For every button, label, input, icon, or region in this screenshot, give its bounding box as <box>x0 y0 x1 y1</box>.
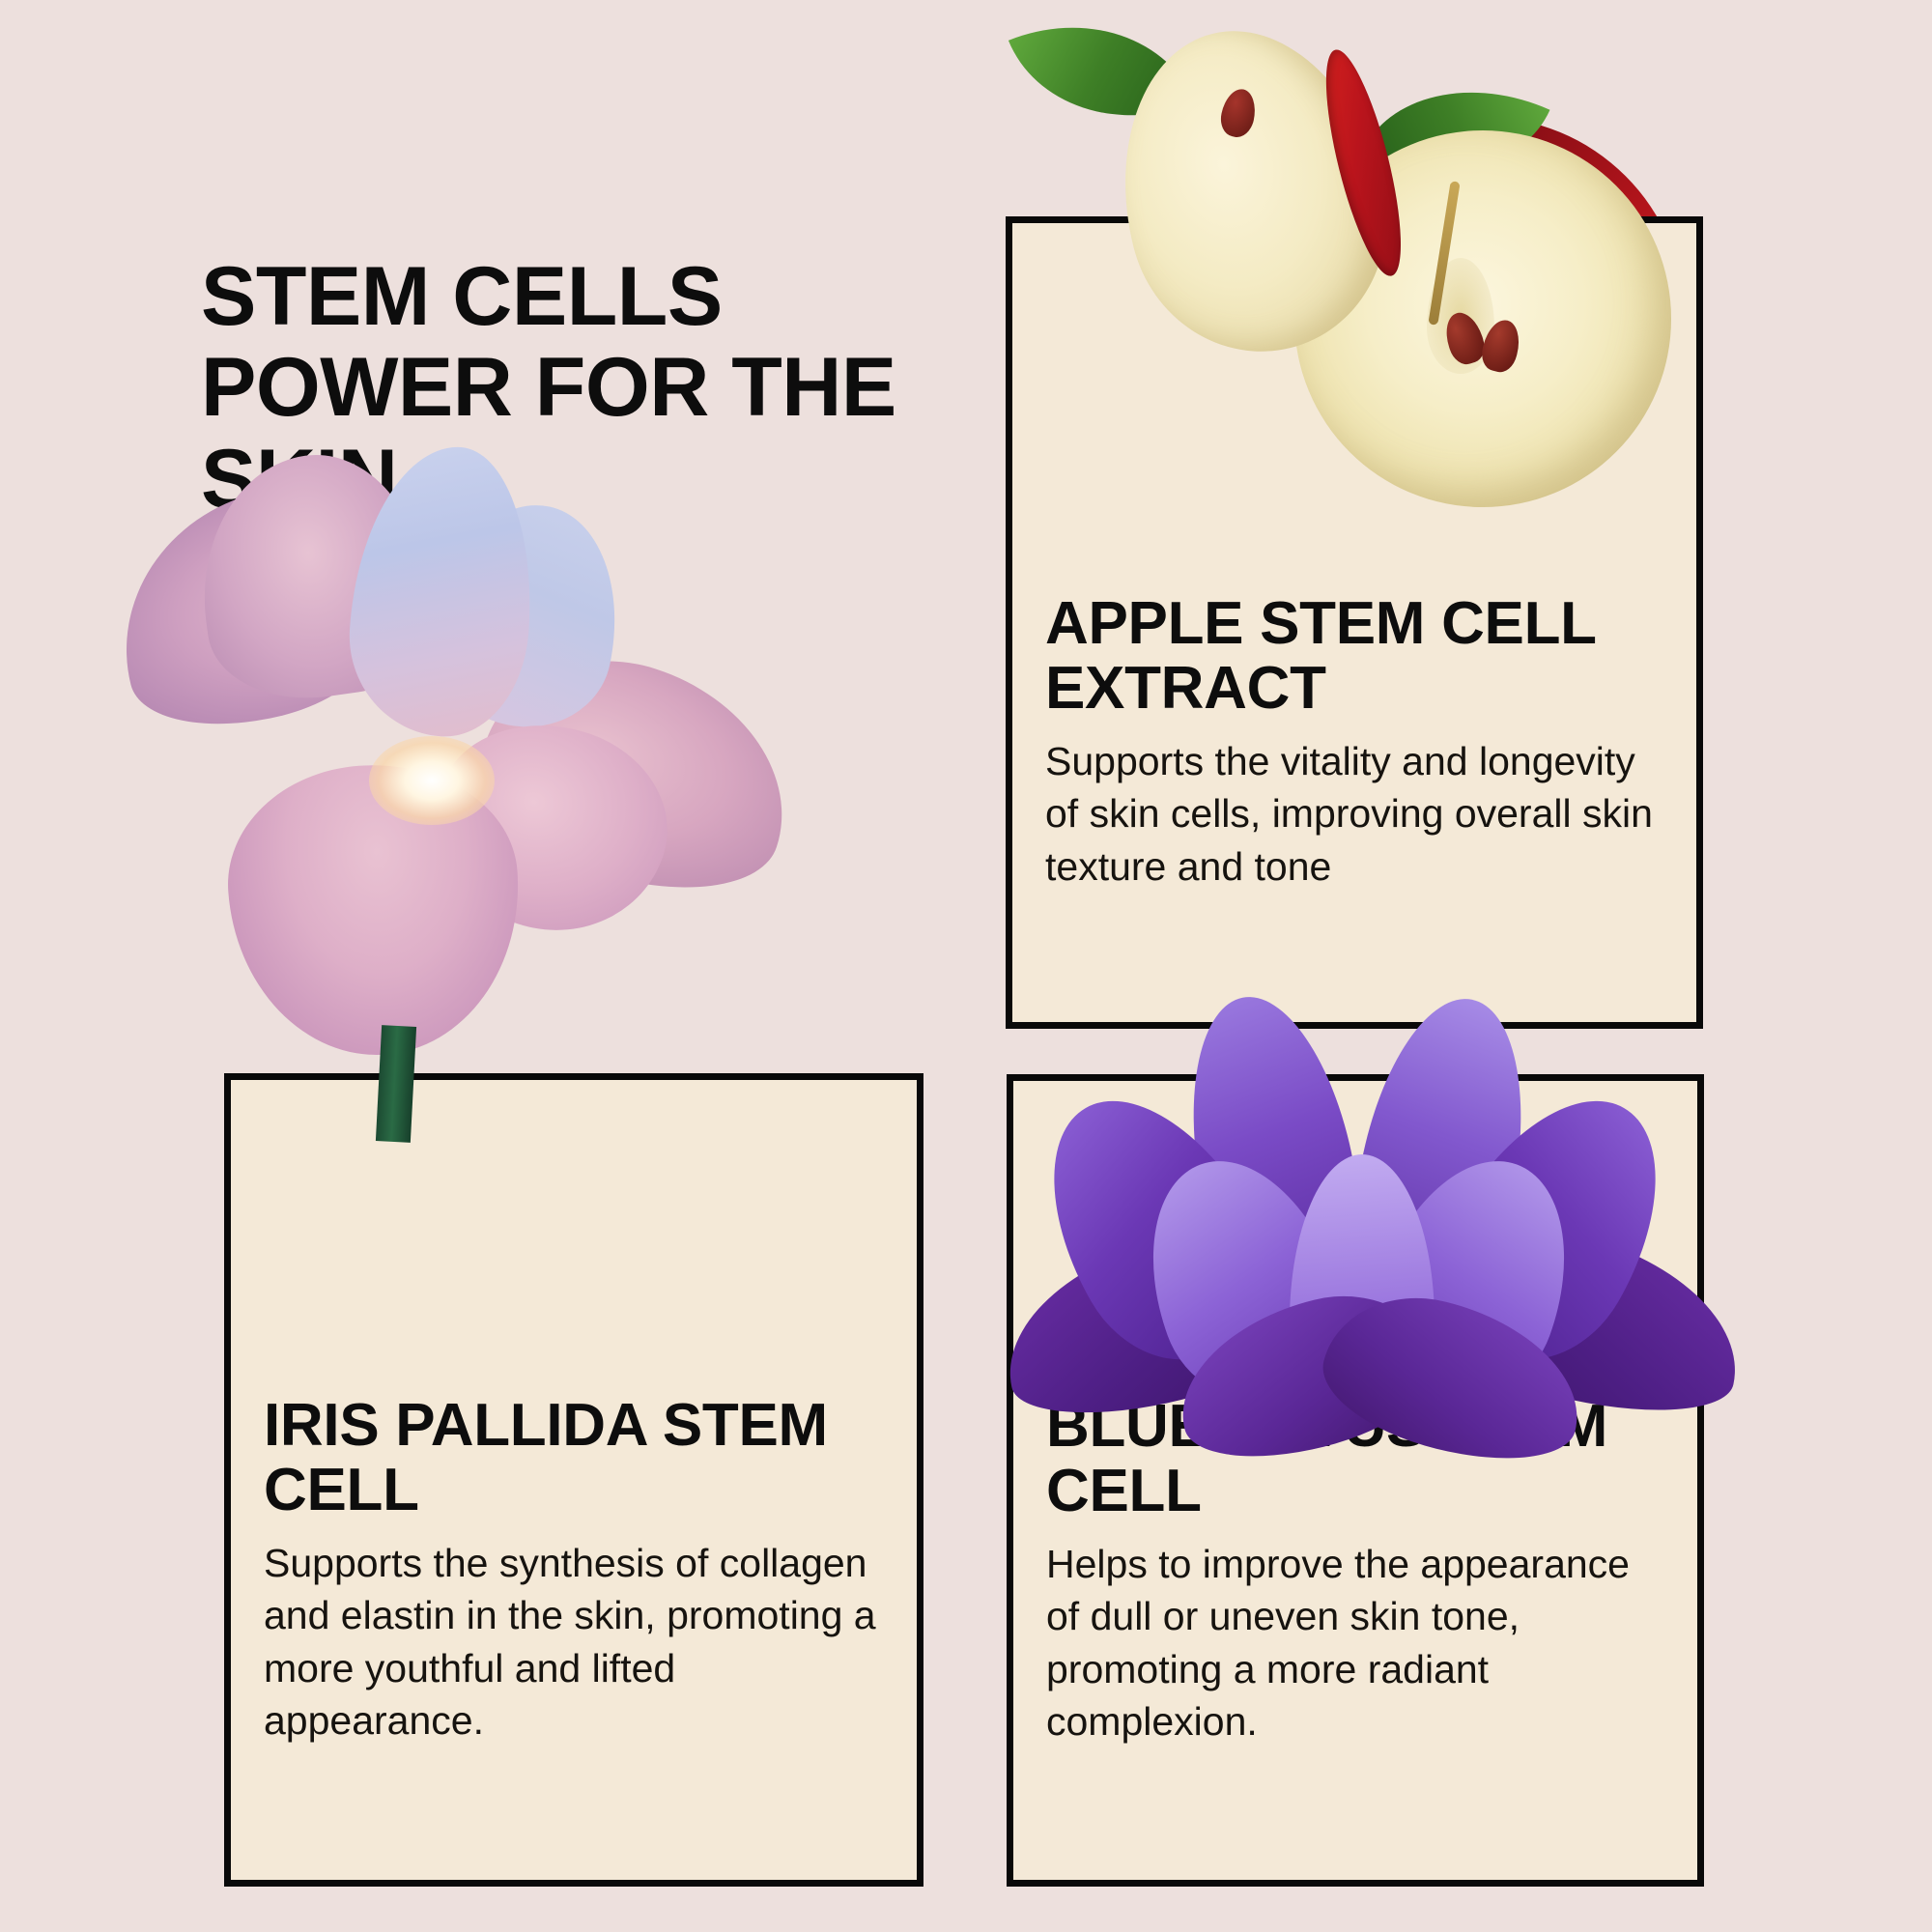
card-lotus-title: BLUE LOTUS STEM CELL <box>1046 1395 1664 1524</box>
card-blue-lotus-stem-cell: BLUE LOTUS STEM CELL Helps to improve th… <box>1007 1074 1704 1887</box>
card-iris-title: IRIS PALLIDA STEM CELL <box>264 1394 884 1523</box>
iris-petal-shape <box>412 698 691 957</box>
apple-leaf-icon <box>1362 47 1550 216</box>
iris-petal-shape <box>220 755 529 1065</box>
card-apple-text-block: APPLE STEM CELL EXTRACT Supports the vit… <box>1012 592 1696 893</box>
card-apple-stem-cell: APPLE STEM CELL EXTRACT Supports the vit… <box>1006 216 1703 1029</box>
iris-center-glow <box>369 736 495 825</box>
apple-leaf-icon <box>1009 0 1195 158</box>
apple-seed-shape <box>1217 86 1260 140</box>
infographic-canvas: STEM CELLS POWER FOR THE SKIN APPLE STEM… <box>0 0 1932 1932</box>
card-apple-title: APPLE STEM CELL EXTRACT <box>1045 592 1663 722</box>
card-apple-body: Supports the vitality and longevity of s… <box>1045 735 1663 894</box>
iris-pallida-flower-image <box>116 446 811 1122</box>
iris-petal-shape <box>413 488 639 743</box>
card-iris-pallida-stem-cell: IRIS PALLIDA STEM CELL Supports the synt… <box>224 1073 923 1887</box>
card-lotus-body: Helps to improve the appearance of dull … <box>1046 1538 1664 1748</box>
card-lotus-text-block: BLUE LOTUS STEM CELL Helps to improve th… <box>1013 1395 1697 1748</box>
iris-petal-shape <box>458 626 817 923</box>
page-title: STEM CELLS POWER FOR THE SKIN <box>201 251 935 526</box>
card-iris-text-block: IRIS PALLIDA STEM CELL Supports the synt… <box>231 1394 917 1747</box>
card-iris-body: Supports the synthesis of collagen and e… <box>264 1537 884 1747</box>
